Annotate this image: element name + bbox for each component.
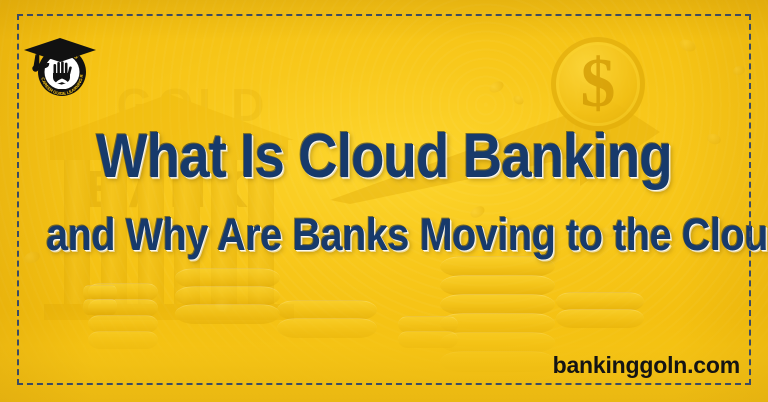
banner-root: GOLD BANK <box>0 0 768 402</box>
headline-line-2: and Why Are Banks Moving to the Cloud? <box>46 212 722 257</box>
headline-block: What Is Cloud Banking and Why Are Banks … <box>0 126 768 257</box>
headline-line-1: What Is Cloud Banking <box>46 126 722 188</box>
site-logo[interactable]: BANKING CAREER GUIDE LEARNING RESOURCE स… <box>22 28 98 100</box>
svg-text:सत्य: सत्य <box>57 88 65 93</box>
site-url-text: bankinggoln.com <box>553 352 740 379</box>
